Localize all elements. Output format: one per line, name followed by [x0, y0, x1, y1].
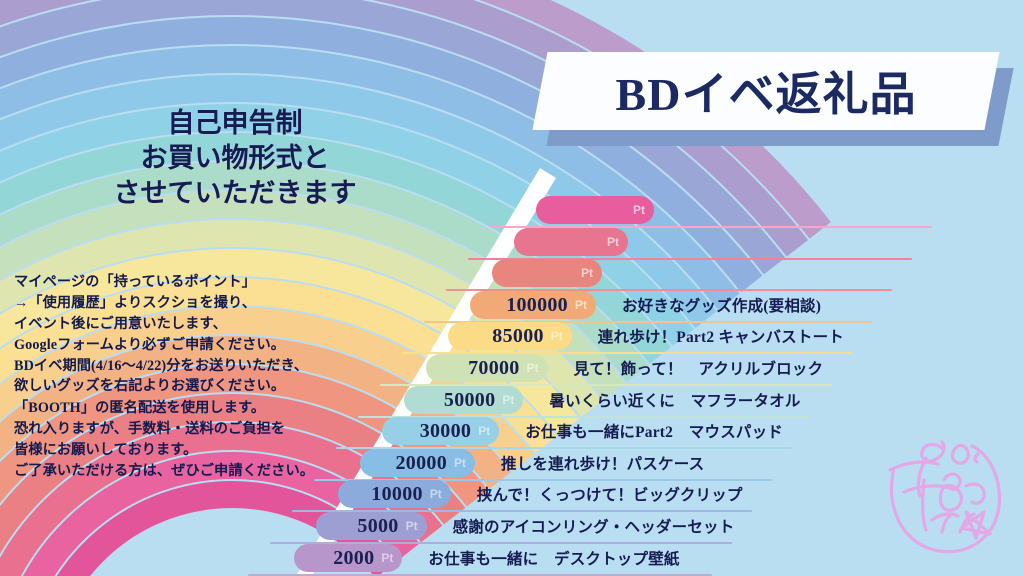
- reward-item-label: お好きなグッズ作成(要相談): [622, 294, 821, 316]
- price-amount: 50000: [444, 390, 496, 410]
- reward-item-label: 暑いくらい近くに マフラータオル: [549, 389, 800, 411]
- price-unit-label: Pt: [502, 394, 514, 406]
- price-pill[interactable]: 30000Pt: [382, 417, 499, 445]
- price-row[interactable]: Pt: [0, 228, 1024, 262]
- price-row[interactable]: 10000Pt挟んで！くっつけて！ビッグクリップ: [0, 480, 1024, 514]
- price-pill[interactable]: 50000Pt: [404, 386, 523, 414]
- price-unit-label: Pt: [454, 457, 466, 469]
- price-amount: 2000: [333, 548, 374, 568]
- artist-signature-icon: [880, 424, 1018, 560]
- price-amount: 20000: [396, 453, 448, 473]
- price-pill[interactable]: Pt: [492, 259, 602, 287]
- reward-item-label: 連れ歩け！Part2 キャンバストート: [598, 325, 844, 347]
- price-amount: 30000: [420, 421, 472, 441]
- reward-item-label: お仕事も一緒にPart2 マウスパッド: [525, 420, 783, 442]
- price-pill[interactable]: Pt: [536, 196, 654, 224]
- price-unit-label: Pt: [381, 552, 393, 564]
- reward-price-list: PtPtPt100000Ptお好きなグッズ作成(要相談)85000Pt連れ歩け！…: [0, 0, 1024, 576]
- price-row[interactable]: 5000Pt感謝のアイコンリング・ヘッダーセット: [0, 512, 1024, 546]
- price-pill[interactable]: 2000Pt: [294, 544, 402, 572]
- price-pill[interactable]: 100000Pt: [470, 291, 596, 319]
- price-unit-label: Pt: [478, 425, 490, 437]
- price-unit-label: Pt: [551, 330, 563, 342]
- price-pill[interactable]: 70000Pt: [426, 354, 548, 382]
- price-pill[interactable]: Pt: [514, 228, 628, 256]
- price-unit-label: Pt: [430, 488, 442, 500]
- reward-item-label: 挟んで！くっつけて！ビッグクリップ: [477, 483, 743, 505]
- price-amount: 100000: [506, 295, 568, 315]
- price-amount: 10000: [371, 484, 423, 504]
- reward-item-label: お仕事も一緒に デスクトップ壁紙: [428, 547, 679, 569]
- row-divider: [248, 574, 712, 576]
- price-unit-label: Pt: [575, 299, 587, 311]
- price-amount: 5000: [357, 516, 398, 536]
- price-amount: 70000: [468, 358, 520, 378]
- reward-item-label: 推しを連れ歩け！パスケース: [501, 452, 704, 474]
- price-unit-label: Pt: [581, 267, 593, 279]
- price-unit-label: Pt: [527, 362, 539, 374]
- price-row[interactable]: 100000Ptお好きなグッズ作成(要相談): [0, 291, 1024, 325]
- price-row[interactable]: 50000Pt暑いくらい近くに マフラータオル: [0, 386, 1024, 420]
- price-pill[interactable]: 5000Pt: [316, 512, 427, 540]
- price-pill[interactable]: 10000Pt: [338, 480, 451, 508]
- reward-item-label: 見て！飾って！ アクリルブロック: [574, 357, 824, 379]
- price-row[interactable]: 70000Pt見て！飾って！ アクリルブロック: [0, 354, 1024, 388]
- price-row[interactable]: 30000Ptお仕事も一緒にPart2 マウスパッド: [0, 417, 1024, 451]
- reward-item-label: 感謝のアイコンリング・ヘッダーセット: [453, 515, 735, 537]
- price-row[interactable]: Pt: [0, 259, 1024, 293]
- price-unit-label: Pt: [633, 204, 645, 216]
- price-row[interactable]: Pt: [0, 196, 1024, 230]
- price-row[interactable]: 2000Ptお仕事も一緒に デスクトップ壁紙: [0, 544, 1024, 576]
- price-row[interactable]: 20000Pt推しを連れ歩け！パスケース: [0, 449, 1024, 483]
- price-row[interactable]: 85000Pt連れ歩け！Part2 キャンバストート: [0, 322, 1024, 356]
- price-unit-label: Pt: [406, 520, 418, 532]
- price-amount: 85000: [492, 326, 544, 346]
- price-pill[interactable]: 20000Pt: [360, 449, 475, 477]
- price-pill[interactable]: 85000Pt: [448, 322, 572, 350]
- price-unit-label: Pt: [607, 236, 619, 248]
- poster-canvas: BDイベ返礼品 自己申告制 お買い物形式と させていただきます マイページの「持…: [0, 0, 1024, 576]
